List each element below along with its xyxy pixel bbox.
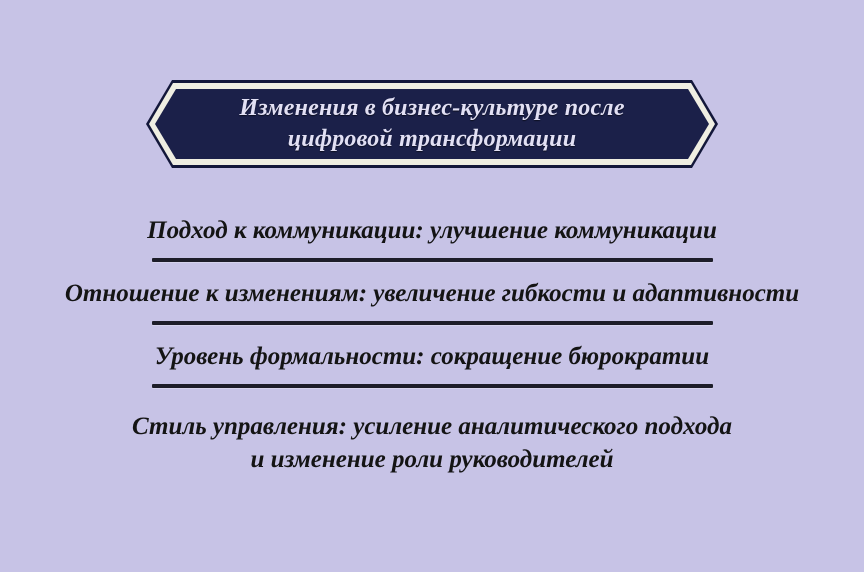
list-item: Отношение к изменениям: увеличение гибко… (0, 277, 864, 325)
item-divider (152, 384, 713, 388)
list-item: Стиль управления: усиление аналитическог… (0, 403, 864, 476)
item-divider (152, 258, 713, 262)
page-title-line-2: цифровой трансформации (288, 124, 577, 155)
list-item: Уровень формальности: сокращение бюрокра… (0, 340, 864, 388)
page-title: Изменения в бизнес-культуре после цифров… (146, 80, 718, 168)
slide-canvas: Изменения в бизнес-культуре после цифров… (0, 0, 864, 572)
list-item: Подход к коммуникации: улучшение коммуни… (0, 214, 864, 262)
item-divider (152, 321, 713, 325)
changes-list: Подход к коммуникации: улучшение коммуни… (0, 214, 864, 476)
title-banner: Изменения в бизнес-культуре после цифров… (146, 80, 718, 168)
list-item-text: Отношение к изменениям: увеличение гибко… (0, 277, 864, 310)
list-item-text: Стиль управления: усиление аналитическог… (0, 403, 864, 476)
list-item-text: Подход к коммуникации: улучшение коммуни… (0, 214, 864, 247)
page-title-line-1: Изменения в бизнес-культуре после (239, 93, 624, 124)
list-item-text: Уровень формальности: сокращение бюрокра… (0, 340, 864, 373)
